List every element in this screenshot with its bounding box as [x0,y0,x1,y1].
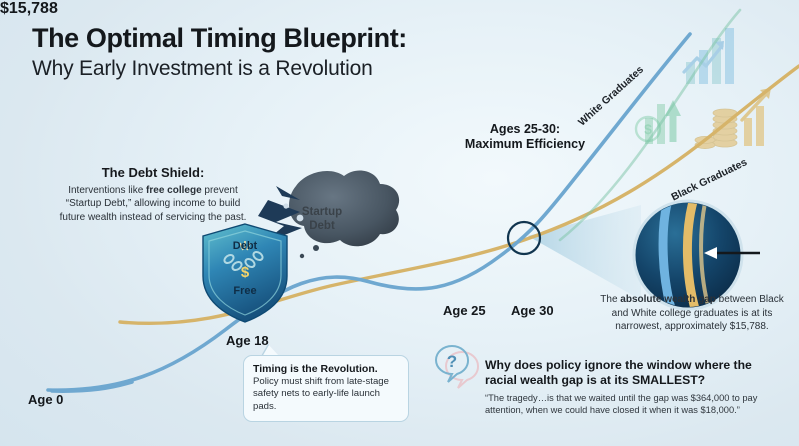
timing-bubble-body: Policy must shift from late-stage safety… [253,376,399,413]
svg-text:?: ? [447,352,457,371]
policy-question-line2: racial wealth gap is at its SMALLEST? [485,373,797,388]
age-tick-0: Age 0 [28,392,63,407]
convergence-point-marker [508,222,540,254]
page-subtitle: Why Early Investment is a Revolution [32,57,407,80]
shield-label-debt: Debt [221,240,269,252]
ages-peak-annotation: Ages 25-30: Maximum Efficiency [455,122,595,153]
coin-stack-icon [695,88,771,149]
curve-label-black-graduates: Black Graduates [669,156,749,203]
magnifier-cone [528,205,641,300]
ages-peak-line1: Ages 25-30: [455,122,595,137]
policy-question-callout: Why does policy ignore the window where … [485,358,797,416]
question-speech-bubble-icon: ? [436,346,478,388]
timing-revolution-callout: Timing is the Revolution. Policy must sh… [243,355,409,422]
dollar-coin-icon: $ [636,117,660,141]
startup-debt-label: Startup Debt [291,206,353,234]
debt-free-shield-icon: $ [203,224,287,322]
debt-shield-heading: The Debt Shield: [53,165,253,180]
page-title: The Optimal Timing Blueprint: [32,24,407,52]
policy-question-line1: Why does policy ignore the window where … [485,358,797,373]
svg-text:$: $ [644,121,652,137]
ages-peak-line2: Maximum Efficiency [455,137,595,152]
startup-debt-line2: Debt [291,220,353,234]
shield-label-free: Free [221,285,269,297]
debt-shield-body: Interventions like free college prevent … [53,184,253,224]
growth-arrow-icon [645,100,681,144]
wealth-gap-caption: The absolute wealth gap between Black an… [592,293,792,334]
svg-text:$: $ [241,264,250,281]
age-tick-30: Age 30 [511,303,554,318]
timing-bubble-heading: Timing is the Revolution. [253,363,399,375]
wealth-gap-caption-text: The absolute wealth gap between Black an… [592,293,792,334]
early-wealth-tail [52,382,132,391]
title-block: The Optimal Timing Blueprint: Why Early … [32,24,407,80]
infographic-canvas: $ [0,0,799,446]
startup-debt-line1: Startup [291,206,353,220]
curve-label-white-graduates: White Graduates [576,64,646,129]
age-tick-25: Age 25 [443,303,486,318]
bar-chart-icon [684,28,734,84]
policy-question-quote: “The tragedy…is that we waited until the… [485,392,797,417]
wealth-gap-amount: $15,788 [0,0,799,18]
debt-shield-annotation: The Debt Shield: Interventions like free… [53,165,253,224]
